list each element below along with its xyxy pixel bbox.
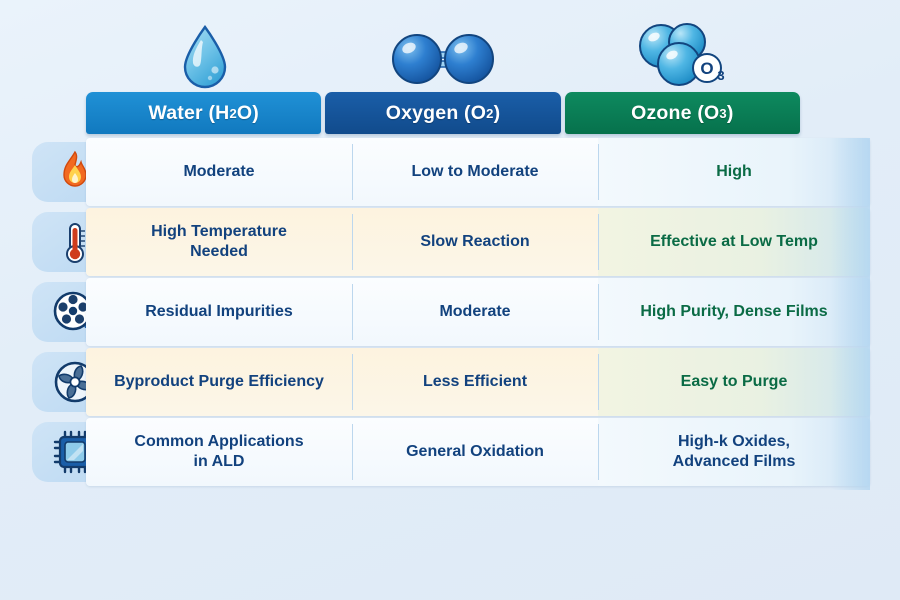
cell-water: Byproduct Purge Efficiency (86, 348, 352, 416)
molecule-cell-ozone: O 3 (562, 18, 800, 90)
column-header-oxygen-tail: ) (494, 102, 501, 125)
cell-ozone: Effective at Low Temp (598, 208, 870, 276)
table-row: High TemperatureNeededSlow ReactionEffec… (32, 208, 870, 276)
column-header-ozone-sub: 3 (719, 106, 726, 121)
cell-oxygen: Moderate (352, 278, 598, 346)
column-header-water[interactable]: Water (H2O) (86, 92, 321, 134)
column-header-water-sub: 2 (229, 106, 236, 121)
infographic-canvas: O 3 Water (H2O) Oxygen (O2) Ozone (O3) M… (0, 0, 900, 600)
table-row: ModerateLow to ModerateHigh (32, 138, 870, 206)
row-cells: ModerateLow to ModerateHigh (86, 138, 870, 206)
water-droplet-icon (177, 24, 233, 90)
column-header-ozone-label: Ozone (O (631, 102, 719, 125)
cell-oxygen: Low to Moderate (352, 138, 598, 206)
cell-ozone: Easy to Purge (598, 348, 870, 416)
ozone-icon-o-label: O (700, 59, 713, 78)
cell-oxygen: Less Efficient (352, 348, 598, 416)
molecule-icon-row: O 3 (86, 18, 800, 90)
cell-water: Residual Impurities (86, 278, 352, 346)
cell-water: Common Applicationsin ALD (86, 418, 352, 486)
row-cells: Residual ImpuritiesModerateHigh Purity, … (86, 278, 870, 346)
ozone-icon-subscript: 3 (717, 68, 724, 83)
column-header-ozone[interactable]: Ozone (O3) (565, 92, 800, 134)
table-row: Byproduct Purge EfficiencyLess Efficient… (32, 348, 870, 416)
cell-ozone: High (598, 138, 870, 206)
column-header-water-tail: O) (237, 102, 259, 125)
column-header-oxygen[interactable]: Oxygen (O2) (325, 92, 560, 134)
cell-oxygen: General Oxidation (352, 418, 598, 486)
cell-ozone: High Purity, Dense Films (598, 278, 870, 346)
table-row: Common Applicationsin ALDGeneral Oxidati… (32, 418, 870, 486)
column-header-oxygen-label: Oxygen (O (386, 102, 486, 125)
row-cells: High TemperatureNeededSlow ReactionEffec… (86, 208, 870, 276)
cell-water: High TemperatureNeeded (86, 208, 352, 276)
column-header-oxygen-sub: 2 (486, 106, 493, 121)
cell-water: Moderate (86, 138, 352, 206)
molecule-cell-water (86, 18, 324, 90)
column-header-water-label: Water (H (148, 102, 229, 125)
cell-oxygen: Slow Reaction (352, 208, 598, 276)
oxygen-molecule-icon (390, 28, 496, 90)
table-header-row: Water (H2O) Oxygen (O2) Ozone (O3) (86, 92, 800, 134)
row-cells: Common Applicationsin ALDGeneral Oxidati… (86, 418, 870, 486)
ozone-molecule-icon: O 3 (631, 20, 731, 90)
row-cells: Byproduct Purge EfficiencyLess Efficient… (86, 348, 870, 416)
cell-ozone: High-k Oxides,Advanced Films (598, 418, 870, 486)
molecule-cell-oxygen (324, 18, 562, 90)
table-row: Residual ImpuritiesModerateHigh Purity, … (32, 278, 870, 346)
table-body: ModerateLow to ModerateHigh High Tempera… (32, 138, 870, 490)
column-header-ozone-tail: ) (727, 102, 734, 125)
